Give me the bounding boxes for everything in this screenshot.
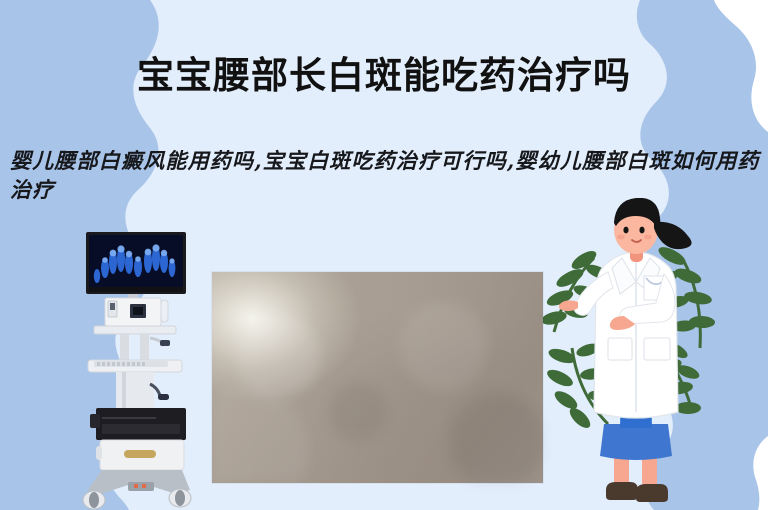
- clinical-skin-photo: [212, 272, 543, 483]
- poster-canvas: 宝宝腰部长白斑能吃药治疗吗 婴儿腰部白癜风能用药吗,宝宝白斑吃药治疗可行吗,婴幼…: [0, 0, 768, 510]
- photo-texture-overlay: [212, 272, 543, 483]
- page-title: 宝宝腰部长白斑能吃药治疗吗: [0, 52, 768, 100]
- doctor-illustration: [536, 198, 736, 510]
- page-subtitle: 婴儿腰部白癜风能用药吗,宝宝白斑吃药治疗可行吗,婴幼儿腰部白斑如何用药治疗: [10, 146, 762, 204]
- medical-equipment-cart-illustration: [72, 232, 200, 510]
